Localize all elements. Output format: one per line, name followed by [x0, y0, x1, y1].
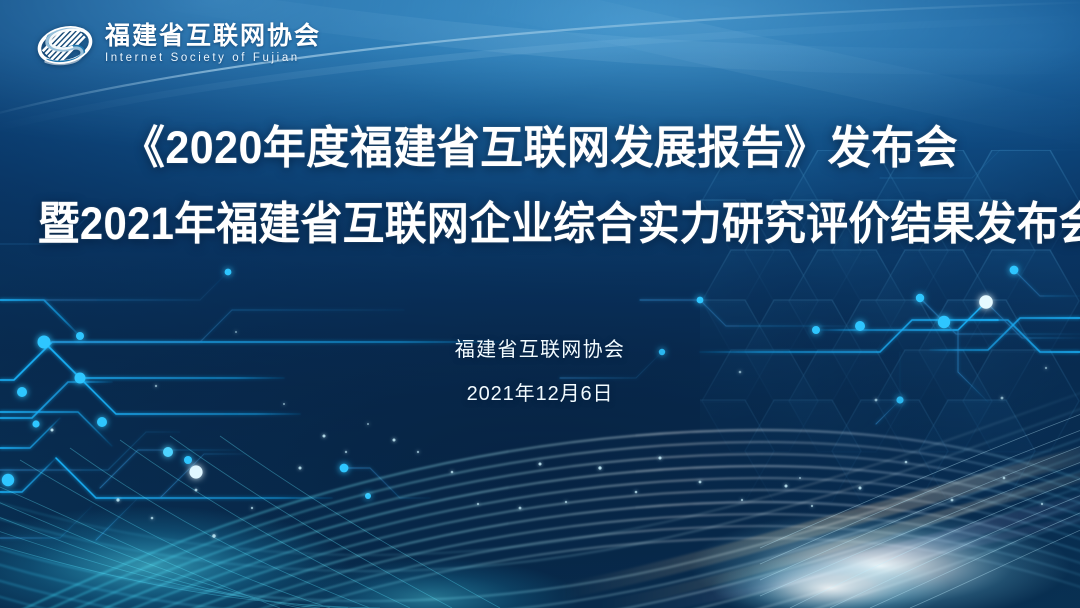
top-light-sheen-arcs: [0, 0, 1080, 608]
logo-org-name-cn: 福建省互联网协会: [105, 23, 321, 49]
flowing-light-wave-bundle: [0, 0, 1080, 608]
logo-org-name-en: Internet Society of Fujian: [105, 50, 321, 67]
background-top-sheen: [0, 0, 1080, 608]
hexagon-honeycomb-pattern: [0, 0, 1080, 608]
glow-particles: [0, 0, 1080, 608]
title-line-2: 暨2021年福建省互联网企业综合实力研究评价结果发布会: [38, 198, 1042, 250]
meta-organizer: 福建省互联网协会: [0, 340, 1080, 360]
background-depth-wash: [0, 0, 1080, 608]
background-base-gradient: [0, 0, 1080, 608]
poster-meta: 福建省互联网协会 2021年12月6日: [0, 340, 1080, 404]
meta-date: 2021年12月6日: [0, 384, 1080, 404]
circuit-trace-network: [0, 0, 1080, 608]
title-line-1: 《2020年度福建省互联网发展报告》发布会: [24, 122, 1055, 174]
poster-title: 《2020年度福建省互联网发展报告》发布会 暨2021年福建省互联网企业综合实力…: [0, 122, 1080, 250]
logo-text-group: 福建省互联网协会 Internet Society of Fujian: [105, 23, 321, 67]
internet-society-oval-swoosh-icon: [36, 22, 94, 68]
logo-lockup: 福建省互联网协会 Internet Society of Fujian: [36, 22, 321, 68]
poster-canvas: 福建省互联网协会 Internet Society of Fujian 《202…: [0, 0, 1080, 608]
